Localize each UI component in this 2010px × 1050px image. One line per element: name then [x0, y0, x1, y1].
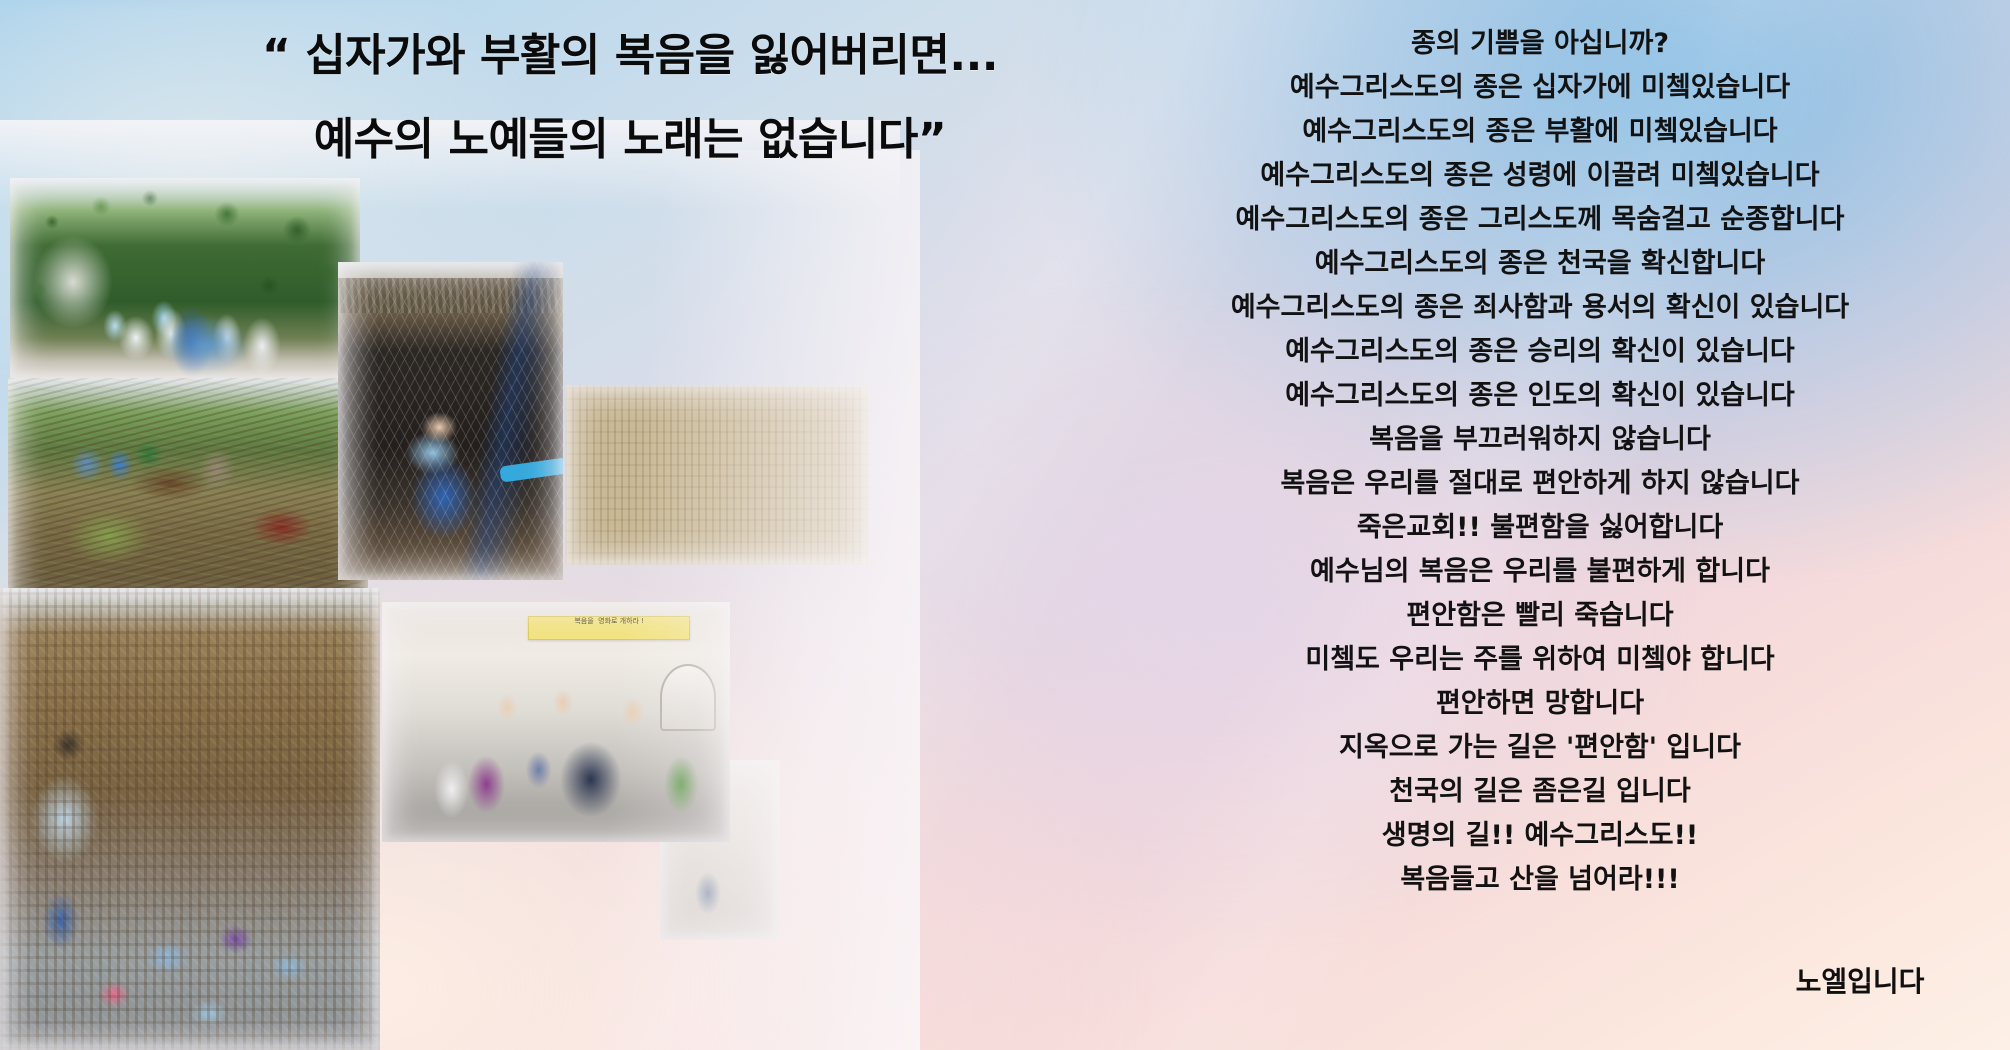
headline-line-2: 예수의 노예들의 노래는 없습니다” — [180, 106, 1080, 174]
creed-line: 예수그리스도의 종은 천국을 확신합니다 — [1110, 242, 1970, 286]
village-walk-photo — [10, 178, 360, 378]
creed-line: 복음은 우리를 절대로 편안하게 하지 않습니다 — [1110, 462, 1970, 506]
creed-line: 종의 기쁨을 아십니까? — [1110, 22, 1970, 66]
bamboo-bicycle-road-photo — [8, 378, 368, 618]
worship-banner: 복음을 영화로 개하라 ! — [528, 616, 690, 640]
headline-line-1: “ 십자가와 부활의 복음을 잃어버리면... — [180, 22, 1080, 90]
creed-line: 예수그리스도의 종은 승리의 확신이 있습니다 — [1110, 330, 1970, 374]
creed-line: 편안하면 망합니다 — [1110, 682, 1970, 726]
creed-line: 생명의 길!! 예수그리스도!! — [1110, 814, 1970, 858]
foliage-texture — [10, 178, 360, 378]
poster-canvas: 복음을 영화로 개하라 ! “ 십자가와 부활의 복음을 잃어버리면... 예수… — [0, 0, 2010, 1050]
creed-line: 예수그리스도의 종은 죄사함과 용서의 확신이 있습니다 — [1110, 286, 1970, 330]
bamboo-wall-texture — [0, 588, 380, 1050]
creed-line: 예수그리스도의 종은 십자가에 미쳌있습니다 — [1110, 66, 1970, 110]
creed-line: 죽은교회!! 불편함을 싫어합니다 — [1110, 506, 1970, 550]
water-well-photo — [338, 262, 563, 580]
creed-line: 예수그리스도의 종은 성령에 이끌려 미쳌있습니다 — [1110, 154, 1970, 198]
worship-banner-text: 복음을 영화로 개하라 ! — [529, 617, 689, 627]
author-signature: 노엘입니다 — [1740, 960, 1980, 1000]
creed-line: 복음들고 산을 넘어라!!! — [1110, 858, 1970, 902]
creed-line: 복음을 부끄러워하지 않습니다 — [1110, 418, 1970, 462]
worship-hands-raised-photo: 복음을 영화로 개하라 ! — [382, 602, 730, 842]
outdoor-teaching-photo — [0, 588, 380, 1050]
creed-text-block: 종의 기쁨을 아십니까? 예수그리스도의 종은 십자가에 미쳌있습니다 예수그리… — [1110, 22, 1970, 902]
creed-line: 예수그리스도의 종은 인도의 확신이 있습니다 — [1110, 374, 1970, 418]
poster-headline: “ 십자가와 부활의 복음을 잃어버리면... 예수의 노예들의 노래는 없습니… — [180, 22, 1080, 174]
creed-line: 예수그리스도의 종은 그리스도께 목숨걸고 순종합니다 — [1110, 198, 1970, 242]
creed-line: 지옥으로 가는 길은 '편안함' 입니다 — [1110, 726, 1970, 770]
creed-line: 예수님의 복음은 우리를 불편하게 합니다 — [1110, 550, 1970, 594]
creed-line: 편안함은 빨리 죽습니다 — [1110, 594, 1970, 638]
bamboo-texture — [8, 378, 368, 618]
arched-window — [660, 664, 716, 730]
bamboo-mat-texture — [565, 385, 870, 565]
indoor-gathering-photo — [565, 385, 870, 565]
wire-fence-texture — [338, 262, 563, 580]
creed-line: 미쳌도 우리는 주를 위하여 미쳌야 합니다 — [1110, 638, 1970, 682]
creed-line: 예수그리스도의 종은 부활에 미쳌있습니다 — [1110, 110, 1970, 154]
creed-line: 천국의 길은 좀은길 입니다 — [1110, 770, 1970, 814]
